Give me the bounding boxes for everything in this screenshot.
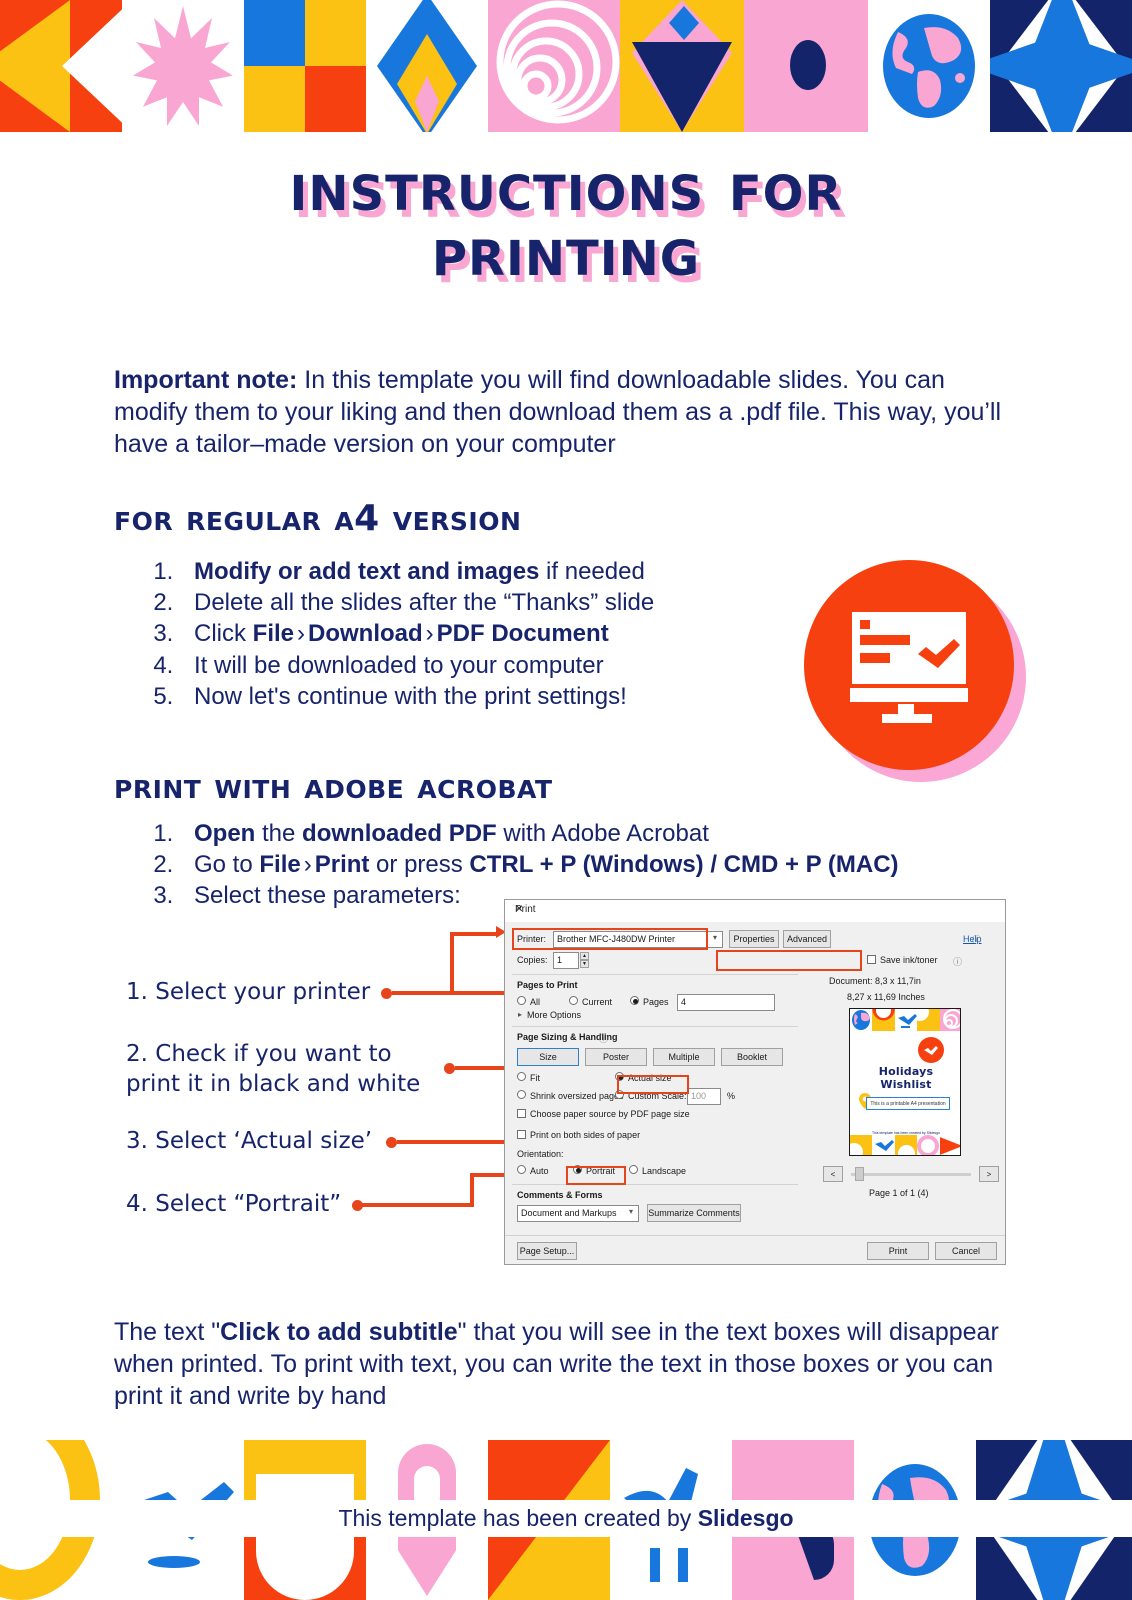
copies-input[interactable]: 1: [553, 952, 579, 969]
print-button[interactable]: Print: [867, 1242, 929, 1260]
preview-next-button[interactable]: >: [979, 1166, 999, 1182]
paper-size-label: 8,27 x 11,69 Inches: [847, 992, 925, 1002]
connector-printer-h1: [392, 991, 504, 995]
presentation-badge: [804, 560, 1026, 782]
summarize-comments-button[interactable]: Summarize Comments: [647, 1204, 741, 1222]
page-setup-button[interactable]: Page Setup...: [517, 1242, 577, 1260]
callout-grayscale: 2. Check if you want to print it in blac…: [126, 1040, 420, 1100]
info-icon[interactable]: ⓘ: [599, 1032, 608, 1045]
info-icon-help[interactable]: ⓘ: [972, 933, 981, 946]
top-decorative-band: [0, 0, 1132, 132]
preview-b-plane: [872, 1135, 894, 1156]
radio-auto-label: Auto: [530, 1166, 549, 1176]
a4-step-3-download: Download: [308, 620, 423, 647]
checkbox-paper-source-label: Choose paper source by PDF page size: [530, 1109, 690, 1119]
acrobat-step-1-pdf: downloaded PDF: [302, 820, 497, 847]
acrobat-step-2-shortcut: CTRL + P (Windows) / CMD + P (MAC): [469, 851, 898, 878]
deco-starburst-pink: [122, 0, 244, 132]
a4-steps-list: Modify or add text and images if needed …: [124, 556, 764, 712]
document-size-label: Document: 8,3 x 11,7in: [829, 976, 921, 986]
custom-scale-input[interactable]: 100: [687, 1088, 721, 1105]
deco-oval-navy: [744, 0, 868, 132]
preview-b-yellow: [895, 1135, 917, 1156]
preview-title: Holidays Wishlist: [850, 1065, 961, 1091]
chevron-down-icon[interactable]: ▾: [713, 933, 717, 942]
highlight-grayscale: [716, 950, 862, 971]
dialog-titlebar: Print ✕: [505, 900, 1005, 922]
checkbox-paper-source[interactable]: [517, 1109, 526, 1118]
a4-step-3-pdf: PDF Document: [437, 620, 609, 647]
callout-grayscale-dot: [444, 1063, 455, 1074]
preview-slider-track[interactable]: [851, 1173, 971, 1176]
radio-shrink-label: Shrink oversized pages: [530, 1091, 624, 1101]
radio-fit-label: Fit: [530, 1073, 540, 1083]
footer-credit-text: This template has been created by: [338, 1505, 697, 1531]
page-title-line-2: Printing: [0, 220, 1132, 285]
deco-cross-diamonds: [990, 0, 1132, 132]
radio-pages-label: Pages: [643, 997, 669, 1007]
pages-input[interactable]: 4: [677, 994, 775, 1011]
footer-credit-brand: Slidesgo: [698, 1505, 794, 1531]
checkbox-save-ink-label: Save ink/toner: [880, 955, 938, 965]
deco-globe-icon: [868, 0, 990, 132]
tab-multiple[interactable]: Multiple: [653, 1048, 715, 1066]
radio-current[interactable]: [569, 996, 578, 1005]
chevron-right-icon[interactable]: ▸: [518, 1010, 522, 1019]
preview-plane-cell: [895, 1009, 917, 1031]
a4-step-2: Delete all the slides after the “Thanks”…: [180, 587, 764, 618]
comments-forms-label: Comments & Forms: [517, 1190, 603, 1200]
callout-printer-dot: [381, 988, 392, 999]
checkbox-both-sides-label: Print on both sides of paper: [530, 1130, 640, 1140]
dialog-footer: Page Setup... Print Cancel: [505, 1235, 1005, 1264]
preview-title-line-2: Wishlist: [850, 1078, 961, 1091]
preview-credit: This template has been created by Slides…: [850, 1131, 961, 1135]
connector-portrait-v: [470, 1173, 474, 1207]
a4-step-3: Click File›Download›PDF Document: [180, 618, 764, 649]
percent-label: %: [727, 1091, 735, 1101]
info-icon-save-ink[interactable]: ⓘ: [953, 955, 962, 968]
section-acrobat-heading: Print with Adobe Acrobat: [114, 766, 553, 807]
presentation-screen-icon: [846, 608, 972, 726]
highlight-actual-size: [617, 1075, 689, 1094]
tab-size[interactable]: Size: [517, 1048, 579, 1066]
deco-diamond-navy-pink: [620, 0, 744, 132]
pages-to-print-label: Pages to Print: [517, 980, 578, 990]
highlight-printer: [512, 928, 708, 950]
more-options-toggle[interactable]: More Options: [527, 1010, 581, 1020]
radio-landscape[interactable]: [629, 1165, 638, 1174]
radio-fit[interactable]: [517, 1072, 526, 1081]
preview-plane-badge: [918, 1037, 944, 1063]
tab-booklet[interactable]: Booklet: [721, 1048, 783, 1066]
preview-title-line-1: Holidays: [850, 1065, 961, 1078]
callout-actual-size-dot: [386, 1137, 397, 1148]
acrobat-steps-list: Open the downloaded PDF with Adobe Acrob…: [124, 818, 1024, 912]
checkbox-both-sides[interactable]: [517, 1130, 526, 1139]
preview-subtitle: This is a printable A4 presentation: [866, 1097, 950, 1110]
a4-step-4: It will be downloaded to your computer: [180, 650, 764, 681]
copies-label: Copies:: [517, 955, 548, 965]
acrobat-step-1-end: with Adobe Acrobat: [497, 820, 709, 847]
outro-bold: Click to add subtitle: [220, 1318, 458, 1346]
a4-step-3-file: File: [253, 620, 294, 647]
preview-top-strip: [850, 1009, 961, 1031]
checkbox-save-ink[interactable]: [867, 955, 876, 964]
callout-portrait: 4. Select “Portrait”: [126, 1190, 341, 1220]
tab-poster[interactable]: Poster: [585, 1048, 647, 1066]
acrobat-step-2-mid: or press: [369, 851, 469, 878]
preview-b-ring: [917, 1135, 939, 1156]
acrobat-step-1: Open the downloaded PDF with Adobe Acrob…: [180, 818, 1024, 849]
cancel-button[interactable]: Cancel: [935, 1242, 997, 1260]
page-indicator: Page 1 of 1 (4): [869, 1188, 929, 1198]
preview-yellow-cell: [917, 1009, 939, 1031]
outro-paragraph: The text "Click to add subtitle" that yo…: [114, 1316, 1014, 1412]
preview-globe-cell: [850, 1009, 872, 1031]
radio-shrink[interactable]: [517, 1090, 526, 1099]
acrobat-step-2-print: Print: [315, 851, 370, 878]
preview-b-triangle: [940, 1135, 961, 1156]
intro-paragraph: Important note: In this template you wil…: [114, 364, 1014, 460]
highlight-portrait: [566, 1166, 626, 1185]
acrobat-step-2-pre: Go to: [194, 851, 259, 878]
acrobat-step-1-mid: the: [255, 820, 302, 847]
acrobat-step-1-open: Open: [194, 820, 255, 847]
acrobat-step-2-file: File: [259, 851, 300, 878]
radio-auto[interactable]: [517, 1165, 526, 1174]
footer-credit: This template has been created by Slides…: [0, 1500, 1132, 1537]
print-preview: Holidays Wishlist This is a printable A4…: [849, 1008, 961, 1156]
a4-step-1-rest: if needed: [539, 558, 644, 585]
preview-b-arc: [850, 1135, 872, 1156]
radio-current-label: Current: [582, 997, 612, 1007]
comments-select[interactable]: Document and Markups: [517, 1205, 639, 1222]
radio-all[interactable]: [517, 996, 526, 1005]
radio-pages[interactable]: [630, 996, 639, 1005]
connector-printer-v: [450, 932, 454, 992]
properties-button[interactable]: Properties: [729, 930, 779, 948]
a4-step-3-pre: Click: [194, 620, 253, 647]
copies-spinner-down[interactable]: ▼: [580, 960, 589, 968]
connector-printer-h2: [450, 932, 498, 936]
a4-step-5: Now let's continue with the print settin…: [180, 681, 764, 712]
chevron-down-icon-comments[interactable]: ▾: [629, 1207, 633, 1216]
page-title: Instructions for Printing: [0, 155, 1132, 286]
deco-chevron-yellow: [0, 0, 122, 132]
radio-all-label: All: [530, 997, 540, 1007]
deco-nested-diamonds: [366, 0, 488, 132]
preview-prev-button[interactable]: <: [823, 1166, 843, 1182]
a4-step-1: Modify or add text and images if needed: [180, 556, 764, 587]
a4-step-1-bold: Modify or add text and images: [194, 558, 539, 585]
orientation-label: Orientation:: [517, 1149, 564, 1159]
deco-four-squares: [244, 0, 366, 132]
preview-arc-cell: [872, 1009, 894, 1031]
page-title-line-1: Instructions for: [0, 155, 1132, 220]
preview-bottom-strip: [850, 1135, 961, 1156]
callout-actual-size: 3. Select ‘Actual size’: [126, 1127, 372, 1157]
preview-slider-thumb[interactable]: [855, 1167, 864, 1181]
copies-spinner-up[interactable]: ▲: [580, 952, 589, 960]
close-icon[interactable]: ✕: [515, 904, 997, 915]
preview-rings-cell: [940, 1009, 961, 1031]
deco-spiral-rings: [488, 0, 620, 132]
radio-landscape-label: Landscape: [642, 1166, 686, 1176]
callout-printer: 1. Select your printer: [126, 978, 370, 1008]
intro-lead: Important note:: [114, 366, 297, 394]
connector-portrait-h: [362, 1203, 474, 1207]
outro-pre: The text ": [114, 1318, 220, 1346]
acrobat-step-2: Go to File›Print or press CTRL + P (Wind…: [180, 849, 1024, 880]
section-a4-heading: For regular A4 version: [114, 498, 521, 539]
